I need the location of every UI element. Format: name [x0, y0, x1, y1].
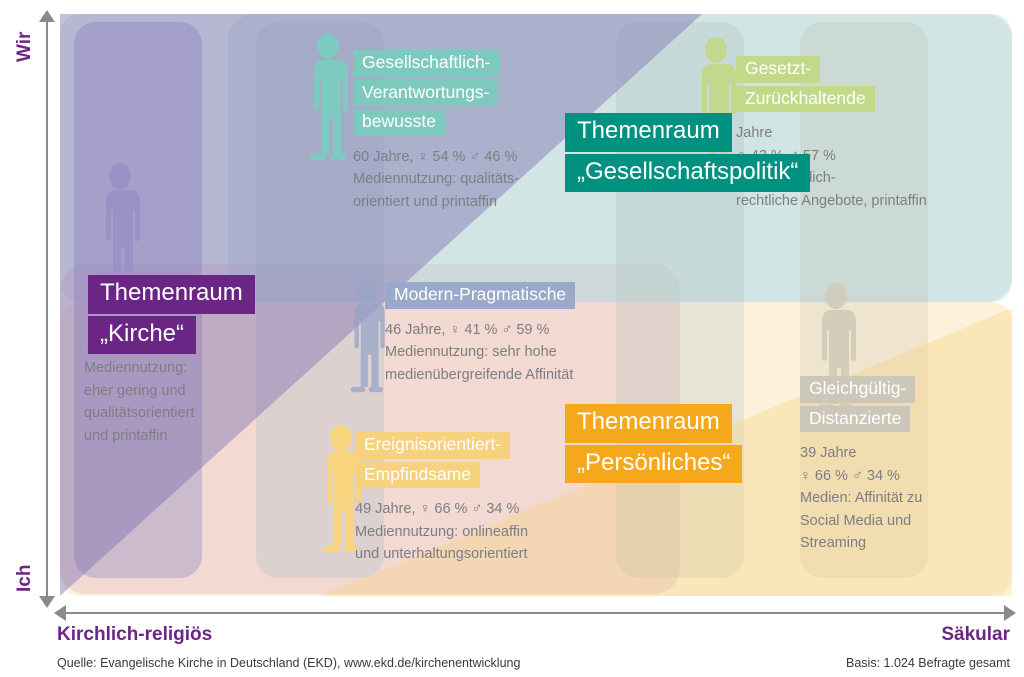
- x-axis-arrow-right-icon: [1004, 605, 1016, 621]
- segment-body: 46 Jahre, ♀ 41 % ♂ 59 % Mediennutzung: s…: [385, 319, 575, 386]
- callout-themenraum-kirche[interactable]: Themenraum „Kirche“: [88, 275, 255, 356]
- x-axis-label-right: Säkular: [941, 624, 1010, 646]
- segment-tag: bewusste: [353, 109, 445, 136]
- source-note: Quelle: Evangelische Kirche in Deutschla…: [57, 656, 520, 670]
- segment-gesellschaftlich-verantwortungsbewusste: Gesellschaftlich- Verantwortungs- bewuss…: [353, 50, 519, 213]
- segment-tag: Gesetzt-: [736, 56, 820, 83]
- callout-themenraum-persoenliches[interactable]: Themenraum „Persönliches“: [565, 404, 742, 485]
- callout-line-2: „Gesellschaftspolitik“: [565, 154, 810, 193]
- chart-plot-area: Gesellschaftlich- Verantwortungs- bewuss…: [60, 14, 1012, 596]
- callout-line-2: „Persönliches“: [565, 445, 742, 484]
- x-axis-label-left: Kirchlich-religiös: [57, 624, 212, 646]
- segment-tag: Empfindsame: [355, 462, 480, 489]
- segment-body: 39 Jahre ♀ 66 % ♂ 34 % Medien: Affinität…: [800, 442, 922, 554]
- callout-line-1: Themenraum: [565, 113, 732, 152]
- x-axis-line: [60, 612, 1012, 614]
- y-axis-line: [46, 16, 48, 604]
- segment-tag: Modern-Pragmatische: [385, 282, 575, 309]
- segment-tag: Ereignisorientiert-: [355, 432, 510, 459]
- segment-tag: Gleichgültig-: [800, 376, 915, 403]
- callout-line-1: Themenraum: [565, 404, 732, 443]
- segment-tag: Distanzierte: [800, 406, 910, 433]
- y-axis-label-bottom: Ich: [14, 565, 36, 592]
- segment-gleichgueltig-distanzierte: Gleichgültig- Distanzierte 39 Jahre ♀ 66…: [800, 376, 922, 555]
- x-axis-arrow-left-icon: [54, 605, 66, 621]
- y-axis-label-top: Wir: [14, 32, 36, 62]
- segment-body: 60 Jahre, ♀ 54 % ♂ 46 % Mediennutzung: q…: [353, 146, 519, 213]
- segment-ereignisorientiert-empfindsame: Ereignisorientiert- Empfindsame 49 Jahre…: [355, 432, 528, 566]
- callout-line-1: Themenraum: [88, 275, 255, 314]
- y-axis-arrow-down-icon: [39, 596, 55, 608]
- segment-tag: Verantwortungs-: [353, 80, 498, 107]
- callout-themenraum-gesellschaftspolitik[interactable]: Themenraum „Gesellschaftspolitik“: [565, 113, 810, 194]
- segment-tag: Gesellschaftlich-: [353, 50, 499, 77]
- segment-body: 49 Jahre, ♀ 66 % ♂ 34 % Mediennutzung: o…: [355, 498, 528, 565]
- person-icon-gesellschaftlich: [300, 32, 356, 162]
- segment-tag: Zurückhaltende: [736, 86, 875, 113]
- segment-modern-pragmatische: Modern-Pragmatische 46 Jahre, ♀ 41 % ♂ 5…: [385, 282, 575, 386]
- y-axis-arrow-up-icon: [39, 10, 55, 22]
- basis-note: Basis: 1.024 Befragte gesamt: [846, 656, 1010, 670]
- callout-line-2: „Kirche“: [88, 316, 196, 355]
